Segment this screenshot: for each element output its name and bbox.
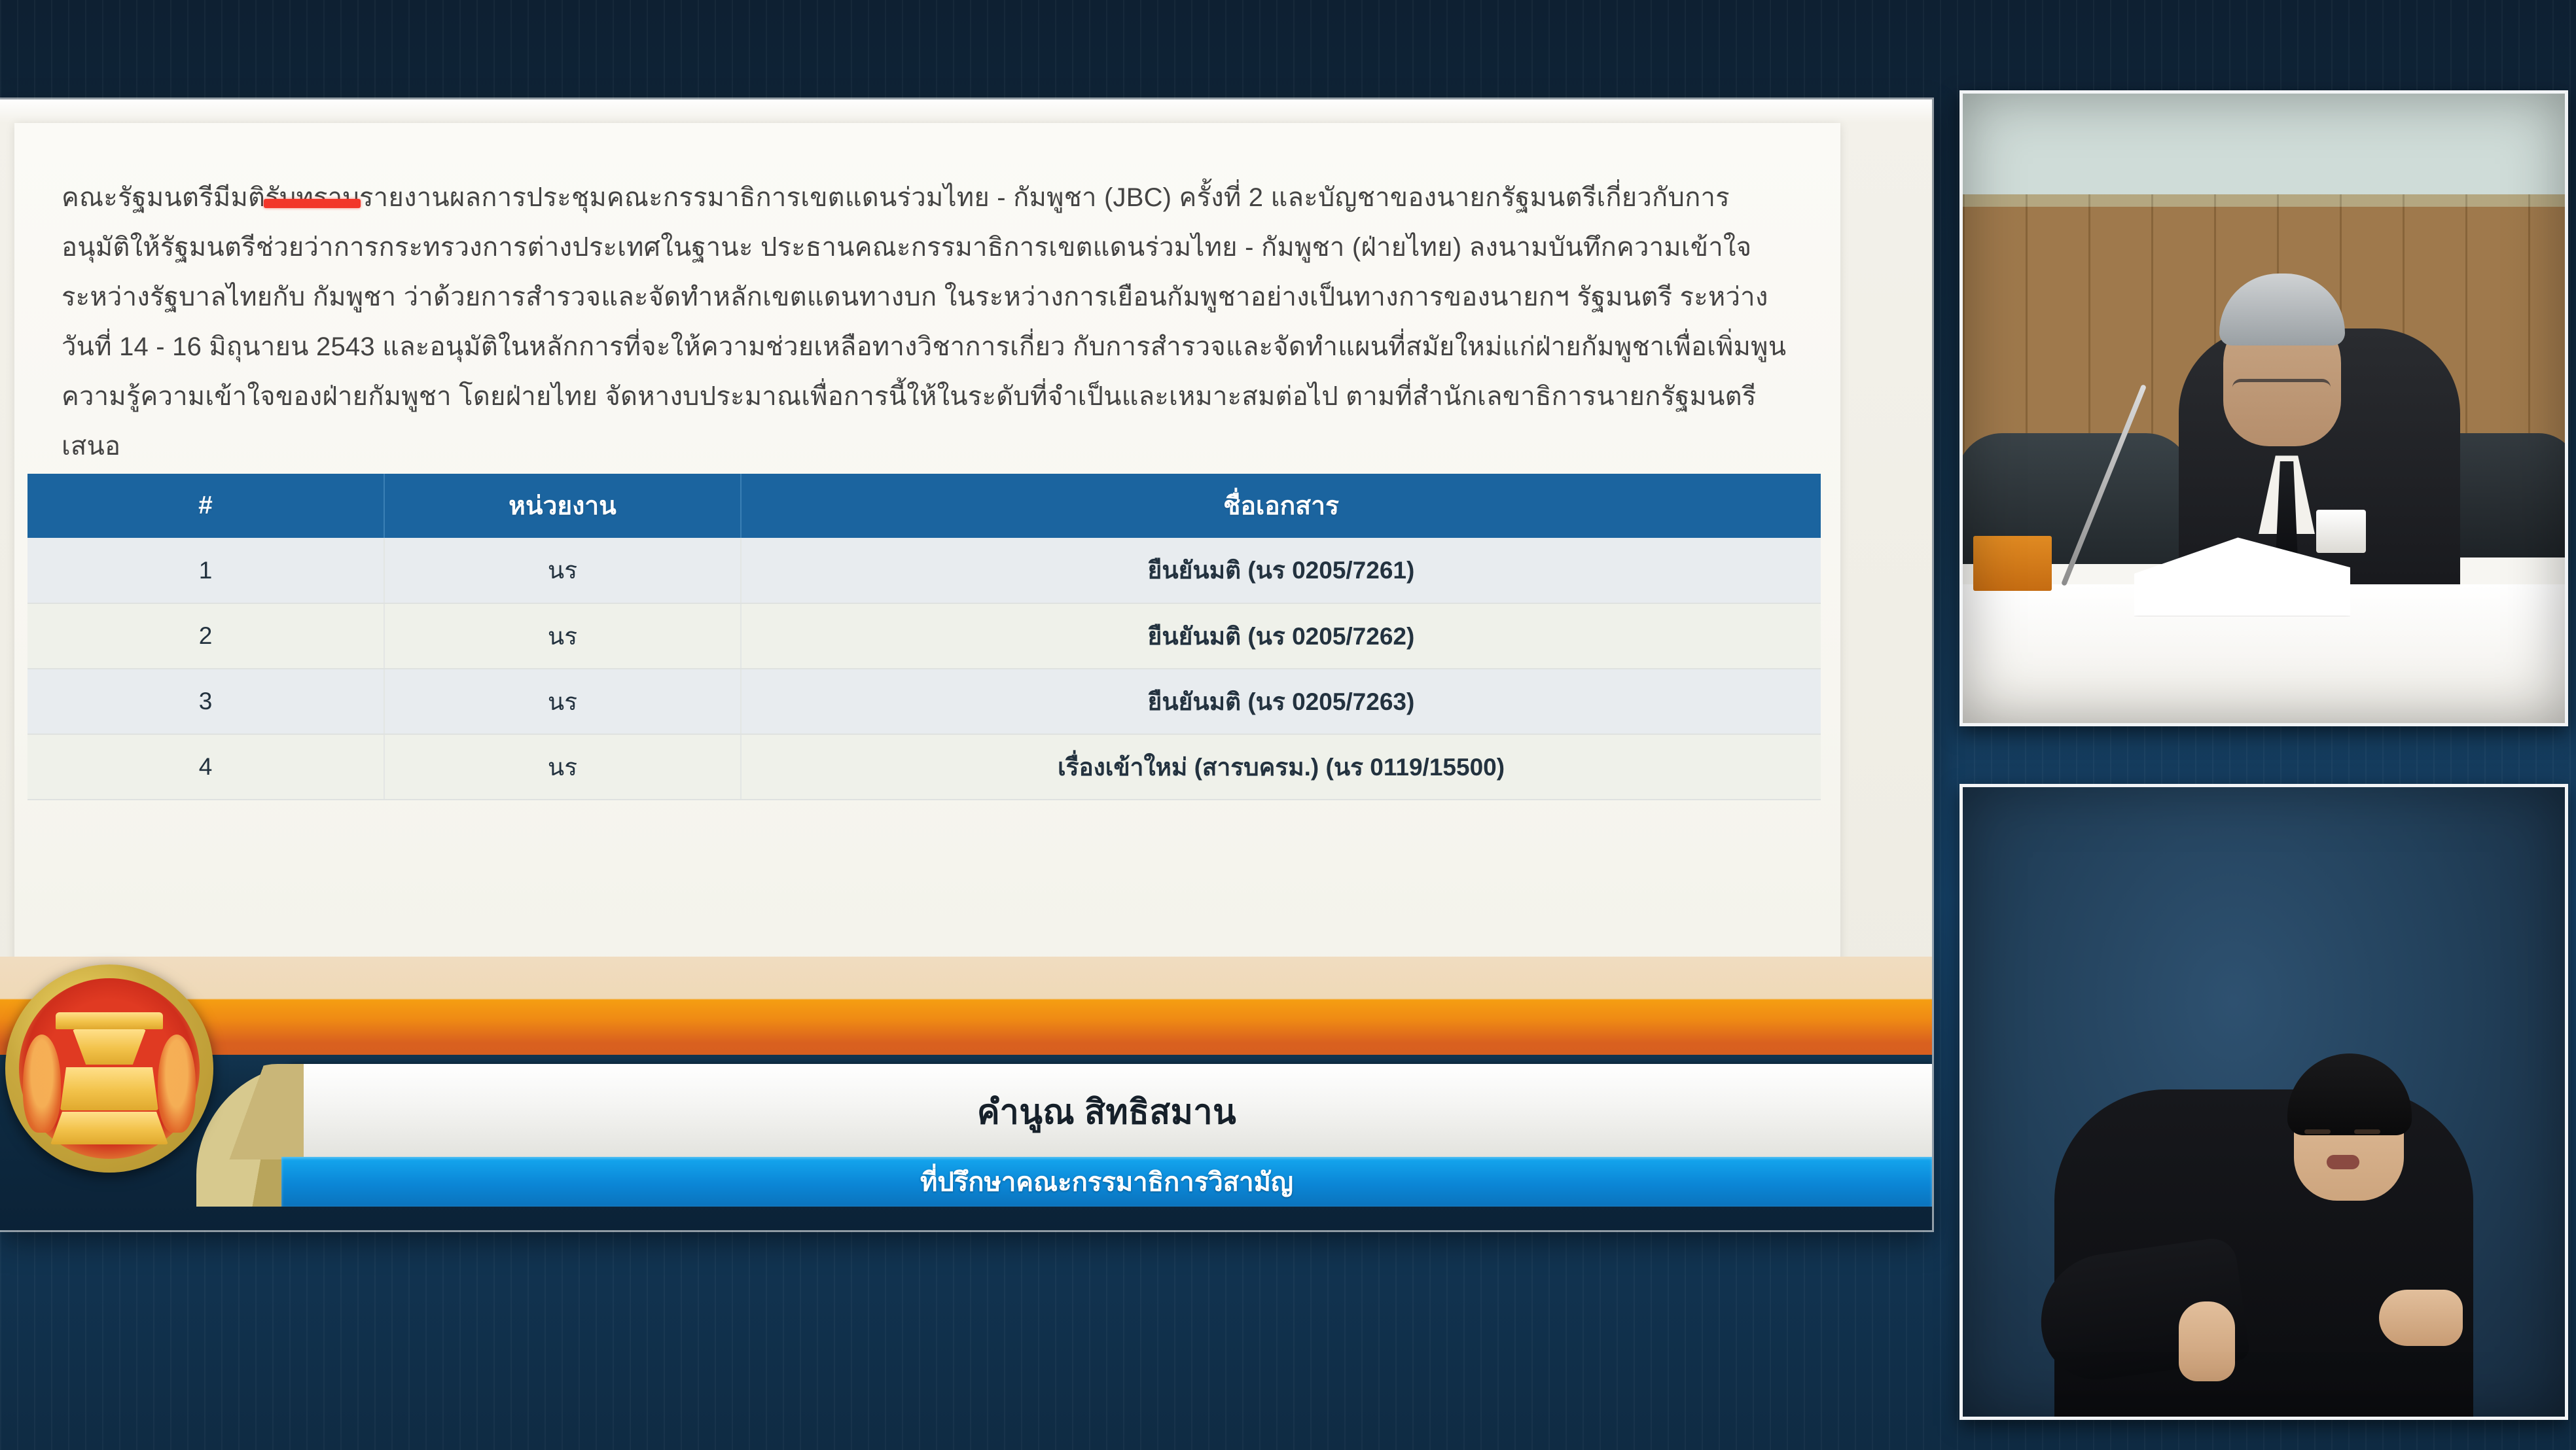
signer-hand-right (2379, 1290, 2463, 1346)
signer-eye-right (2354, 1129, 2380, 1134)
cell-agency: นร (384, 734, 741, 800)
cell-document: ยืนยันมติ (นร 0205/7261) (741, 538, 1821, 603)
sign-language-video-panel[interactable] (1959, 784, 2568, 1420)
emblem-tray-middle (73, 1029, 146, 1065)
cell-document: เรื่องเข้าใหม่ (สารบครม.) (นร 0119/15500… (741, 734, 1821, 800)
screen-glare (0, 99, 1932, 123)
cell-agency: นร (384, 603, 741, 669)
speaker-video-panel[interactable] (1959, 90, 2568, 726)
signer-eye-left (2304, 1129, 2331, 1134)
document-list-table: # หน่วยงาน ชื่อเอกสาร 1 นร ยืนยันมติ (นร… (27, 474, 1821, 800)
projection-screen: คณะรัฐมนตรีมีมติรับทราบรายงานผลการประชุม… (0, 99, 1932, 1230)
table-row: 1 นร ยืนยันมติ (นร 0205/7261) (27, 538, 1821, 603)
signer-mouth (2327, 1155, 2359, 1169)
cell-agency: นร (384, 669, 741, 734)
thai-parliament-emblem-icon (5, 964, 213, 1173)
speaker-role: ที่ปรึกษาคณะกรรมาธิการวิสามัญ (281, 1158, 1932, 1205)
speaker-name: คำนูณ สิทธิสมาน (281, 1065, 1932, 1157)
emblem-flame-left (23, 1034, 61, 1133)
paragraph-segment-2: รายงานผลการประชุมคณะกรรมาธิการเขตแดนร่วม… (62, 183, 1786, 461)
emblem-inner (19, 978, 200, 1159)
emblem-tray-foot (50, 1112, 168, 1144)
cell-agency: นร (384, 538, 741, 603)
speaker-id-badge (2316, 510, 2366, 553)
emblem-flame-right (158, 1034, 196, 1133)
lower-third-banner: คำนูณ สิทธิสมาน ที่ปรึกษาคณะกรรมาธิการวิ… (0, 1014, 1932, 1230)
cell-number: 2 (27, 603, 384, 669)
column-header-agency: หน่วยงาน (384, 474, 741, 538)
signer-hand-left (2179, 1301, 2235, 1381)
cell-document: ยืนยันมติ (นร 0205/7262) (741, 603, 1821, 669)
document-sheet: คณะรัฐมนตรีมีมติรับทราบรายงานผลการประชุม… (14, 123, 1840, 1090)
red-underline-highlight: รับทราบ (265, 183, 359, 212)
paragraph-segment-1: คณะรัฐมนตรีมีมติ (62, 183, 265, 212)
cell-number: 4 (27, 734, 384, 800)
emblem-tray-base (60, 1067, 158, 1110)
column-header-number: # (27, 474, 384, 538)
speaker-glasses (2232, 379, 2331, 396)
cabinet-resolution-paragraph: คณะรัฐมนตรีมีมติรับทราบรายงานผลการประชุม… (62, 173, 1789, 471)
table-row: 2 นร ยืนยันมติ (นร 0205/7262) (27, 603, 1821, 669)
desk-nameplate (1973, 536, 2052, 591)
table-header-row: # หน่วยงาน ชื่อเอกสาร (27, 474, 1821, 538)
cell-number: 3 (27, 669, 384, 734)
column-header-document: ชื่อเอกสาร (741, 474, 1821, 538)
table-row: 4 นร เรื่องเข้าใหม่ (สารบครม.) (นร 0119/… (27, 734, 1821, 800)
emblem-tray-top (56, 1012, 163, 1029)
table-row: 3 นร ยืนยันมติ (นร 0205/7263) (27, 669, 1821, 734)
cell-document: ยืนยันมติ (นร 0205/7263) (741, 669, 1821, 734)
cell-number: 1 (27, 538, 384, 603)
